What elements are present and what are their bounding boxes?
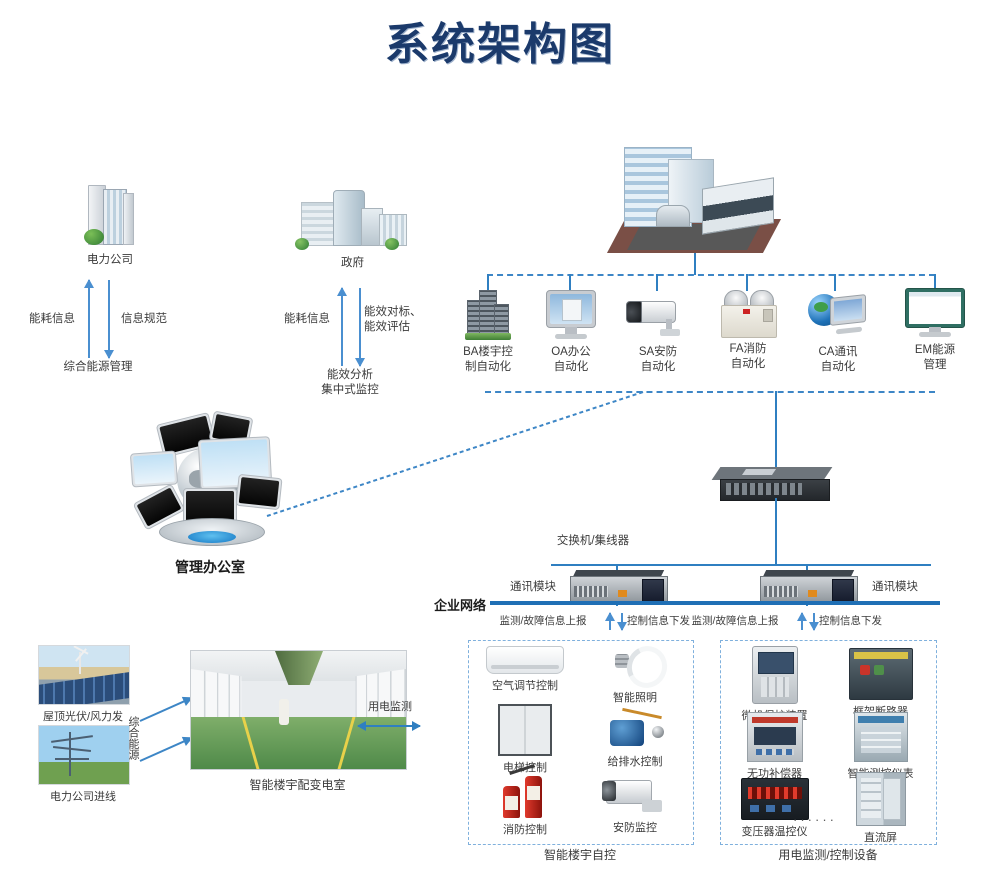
power-company-down-arrow (108, 280, 110, 358)
communication-module-icon (760, 570, 856, 604)
cfl-bulb-icon (613, 642, 657, 686)
automation-drop-2 (569, 274, 571, 291)
automation-label-ba: BA楼宇控 制自动化 (452, 345, 524, 375)
flow-down-arrow-left (621, 613, 623, 630)
government-node: 政府 (290, 190, 415, 271)
automation-label-sa: SA安防 自动化 (620, 345, 696, 375)
government-label: 政府 (290, 256, 415, 271)
energy-flow-arrow-bottom (140, 737, 192, 762)
automation-drop-4 (746, 274, 748, 291)
power-company-up-arrow (88, 280, 90, 358)
power-devices-caption: 用电监测/控制设备 (722, 848, 934, 863)
monitor-icon (543, 290, 599, 340)
grid-supply-label: 电力公司进线 (38, 790, 128, 805)
energy-flow-arrow-top (140, 697, 192, 722)
automation-drop-3 (656, 274, 658, 291)
switch-label: 交换机/集线器 (533, 534, 653, 549)
energy-monitor-icon (903, 288, 967, 338)
building-icon (465, 288, 511, 340)
power-company-up-label: 能耗信息 (22, 312, 82, 327)
water-valve-icon (606, 706, 664, 750)
automation-label-ca: CA通讯 自动化 (802, 345, 874, 375)
comm-module-left-label: 通讯模块 (500, 580, 566, 595)
emergency-light-icon (719, 290, 777, 338)
management-office-node: 管理办公室 (125, 414, 295, 575)
power-monitoring-label: 用电监测 (355, 700, 425, 715)
automation-item-em: EM能源 管理 (898, 288, 972, 373)
automation-bus-line (487, 274, 935, 276)
flow-upstream-left: 监测/故障信息上报 (484, 614, 602, 629)
communication-module-icon (570, 570, 666, 604)
automation-label-oa: OA办公 自动化 (535, 345, 607, 375)
power-company-node: 电力公司 (50, 183, 170, 268)
solar-wind-photo (38, 645, 130, 705)
device-label-smart-lighting: 智能照明 (580, 689, 690, 705)
automation-drop-5 (834, 274, 836, 291)
device-security-monitoring: 安防监控 (580, 774, 690, 835)
device-water-supply: 给排水控制 (580, 706, 690, 769)
automation-item-ba: BA楼宇控 制自动化 (452, 288, 524, 375)
device-fire-control: 消防控制 (470, 770, 580, 837)
building-automation-caption: 智能楼宇自控 (470, 848, 690, 863)
flow-downstream-right: 控制信息下发 (819, 614, 911, 629)
smart-building-node (610, 143, 780, 253)
device-label-water-supply: 给排水控制 (580, 753, 690, 769)
automation-item-fa: FA消防 自动化 (712, 290, 784, 372)
reactive-compensator-icon (747, 712, 803, 762)
flow-up-arrow-left (609, 613, 611, 630)
fire-extinguisher-icon (499, 770, 551, 818)
device-transformer-temp: 变压器温控仪 (722, 778, 827, 839)
comm-module-right (760, 570, 856, 604)
power-company-icon (84, 183, 136, 247)
comm-module-right-label: 通讯模块 (862, 580, 928, 595)
enterprise-network-bar (490, 601, 940, 605)
device-label-security-monitoring: 安防监控 (580, 819, 690, 835)
flow-upstream-right: 监测/故障信息上报 (676, 614, 794, 629)
flow-up-arrow-right (801, 613, 803, 630)
automation-item-sa: SA安防 自动化 (620, 293, 696, 375)
government-down-label: 能效对标、 能效评估 (364, 305, 426, 335)
substation-node: 智能楼宇配变电室 (190, 650, 407, 793)
device-smart-meter: 智能测控仪表 (828, 712, 933, 781)
automation-item-oa: OA办公 自动化 (535, 290, 607, 375)
government-building-icon (293, 190, 413, 252)
device-label-fire-control: 消防控制 (470, 821, 580, 837)
device-elevator: 电梯控制 (470, 704, 580, 775)
power-company-label: 电力公司 (50, 253, 170, 268)
office-building-icon (610, 143, 780, 253)
switch-uplink-line (775, 391, 777, 473)
circuit-breaker-icon (849, 648, 913, 700)
integrated-energy-flow-label: 综合能源 (123, 703, 139, 773)
power-monitoring-arrow (358, 725, 420, 727)
government-up-arrow (341, 288, 343, 366)
device-label-dc-panel: 直流屏 (828, 829, 933, 845)
comm-distribution-line (551, 564, 931, 566)
office-to-bus-link (265, 390, 645, 520)
elevator-icon (498, 704, 552, 756)
grid-supply-node: 电力公司进线 (38, 725, 130, 805)
camera-icon (626, 293, 690, 339)
government-down-arrow (359, 288, 361, 366)
page-title: 系统架构图 (0, 8, 1000, 72)
device-circuit-breaker: 框架断路器 (828, 648, 933, 719)
power-grid-photo (38, 725, 130, 785)
comm-module-left (570, 570, 666, 604)
automation-item-ca: CA通讯 自动化 (802, 290, 874, 375)
substation-label: 智能楼宇配变电室 (190, 778, 405, 793)
device-label-air-conditioner: 空气调节控制 (470, 677, 580, 693)
integrated-energy-management-label: 综合能源管理 (38, 360, 158, 375)
power-company-down-label: 信息规范 (114, 312, 174, 327)
device-dc-panel: 直流屏 (828, 772, 933, 845)
automation-label-em: EM能源 管理 (898, 343, 972, 373)
globe-monitor-icon (808, 290, 868, 340)
building-connector (694, 253, 696, 275)
device-smart-lighting: 智能照明 (580, 642, 690, 705)
protection-relay-icon (752, 646, 798, 704)
air-conditioner-icon (486, 646, 564, 674)
security-camera-icon (602, 774, 668, 816)
flow-down-arrow-right (813, 613, 815, 630)
switch-downlink-line (775, 498, 777, 564)
management-office-label: 管理办公室 (125, 560, 295, 575)
government-up-label: 能耗信息 (276, 312, 338, 327)
automation-label-fa: FA消防 自动化 (712, 342, 784, 372)
power-devices-more: ······ (775, 812, 855, 827)
multi-screen-globe-icon (125, 414, 295, 554)
smart-meter-icon (854, 712, 908, 762)
device-air-conditioner: 空气调节控制 (470, 646, 580, 693)
device-reactive-compensator: 无功补偿器 (722, 712, 827, 781)
dc-panel-icon (856, 772, 906, 826)
